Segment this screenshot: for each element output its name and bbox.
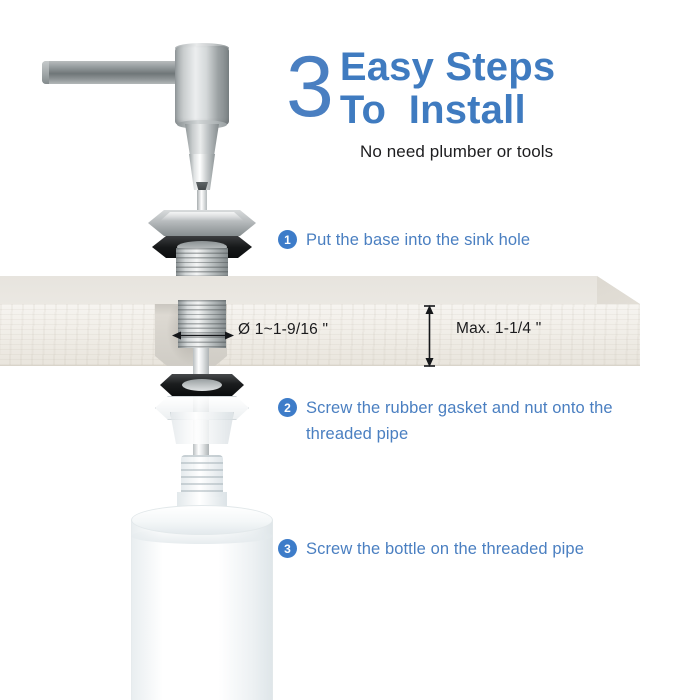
bottle-body [131, 520, 273, 700]
infographic-canvas: Ø 1~1-9/16 " Max. 1-1/4 " 3 Easy Steps T… [0, 0, 700, 700]
step-text-3: Screw the bottle on the threaded pipe [306, 537, 584, 563]
spout-arm [42, 61, 182, 84]
pump-head-body [175, 46, 229, 126]
step-item-2: 2 Screw the rubber gasket and nut onto t… [278, 396, 636, 447]
bottle-rim [131, 528, 273, 544]
pump-collar [185, 124, 219, 156]
spout-arm-cap [42, 61, 49, 84]
step-badge-3: 3 [278, 539, 297, 558]
rubber-washer-hole [182, 379, 222, 391]
step-text-1: Put the base into the sink hole [306, 228, 530, 254]
step-badge-2: 2 [278, 398, 297, 417]
step-item-3: 3 Screw the bottle on the threaded pipe [278, 537, 584, 563]
step-item-1: 1 Put the base into the sink hole [278, 228, 530, 254]
step-badge-1: 1 [278, 230, 297, 249]
headline-subtitle: No need plumber or tools [360, 142, 553, 162]
mounting-nut-body [170, 412, 234, 444]
headline-line-2: To Install [340, 89, 555, 132]
hole-diameter-label: Ø 1~1-9/16 " [238, 321, 328, 339]
headline-number: 3 [286, 48, 332, 127]
flange-base-highlight [160, 212, 244, 221]
headline-line-1: Easy Steps [340, 46, 555, 89]
hole-diameter-arrow-icon [172, 330, 234, 341]
max-thickness-arrow-icon [424, 305, 435, 367]
step-text-2: Screw the rubber gasket and nut onto the… [306, 396, 636, 447]
max-thickness-label: Max. 1-1/4 " [456, 320, 541, 338]
headline-block: 3 Easy Steps To Install [286, 44, 686, 132]
bottle-neck-threads [181, 455, 223, 497]
